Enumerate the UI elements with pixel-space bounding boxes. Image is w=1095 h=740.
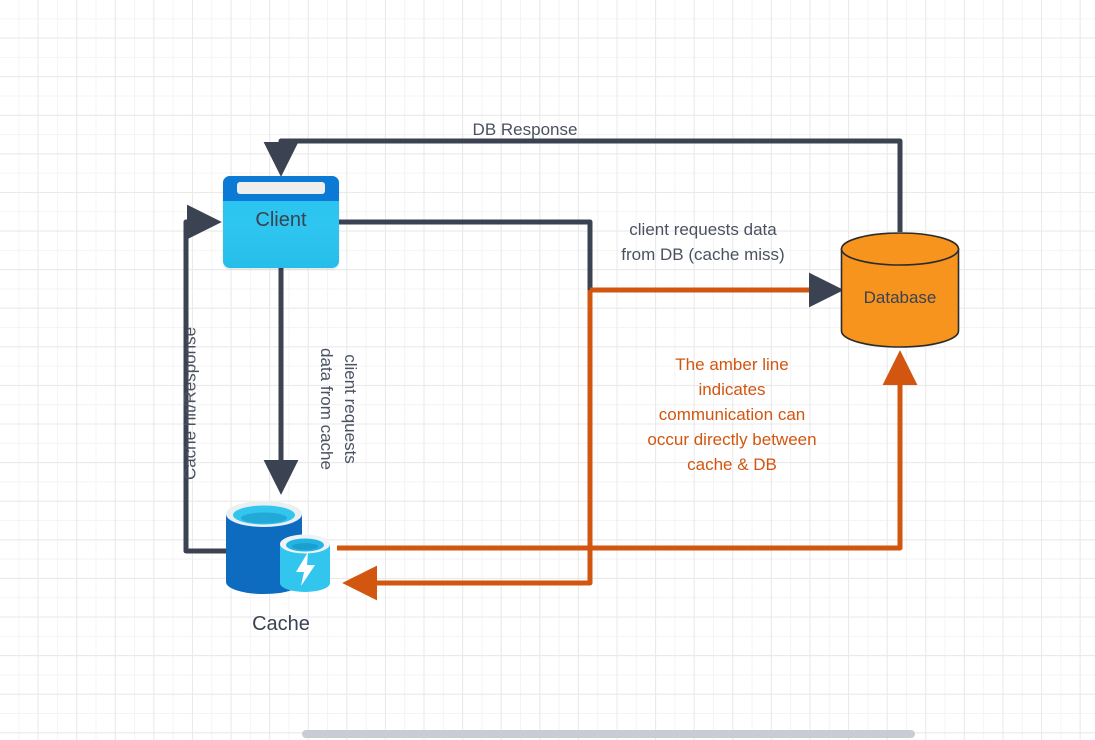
edge-label-client-to-db: client requests data from DB (cache miss… <box>588 217 818 267</box>
database-cylinder-icon <box>840 232 960 348</box>
client-window-titlebar-icon <box>223 176 339 201</box>
horizontal-scrollbar-thumb[interactable] <box>302 730 915 738</box>
node-client[interactable]: Client <box>223 176 339 268</box>
node-cache-label: Cache <box>200 613 362 636</box>
amber-line-annotation: The amber line indicates communication c… <box>606 352 858 477</box>
edge-db-to-cache <box>348 290 590 583</box>
client-titlebar-field-icon <box>237 182 325 194</box>
node-cache[interactable] <box>222 494 342 602</box>
diagram-canvas[interactable]: Client Cache Database DB Response client… <box>0 0 1095 740</box>
edge-label-client-to-cache: client requests data from cache <box>314 314 362 504</box>
cache-cylinders-icon <box>222 494 342 602</box>
horizontal-scrollbar[interactable] <box>0 728 1095 740</box>
node-client-label: Client <box>223 209 339 232</box>
edge-client-to-db <box>339 222 590 290</box>
edge-label-cache-hit: Cache hit/Response <box>178 309 203 499</box>
edge-label-db-response: DB Response <box>420 117 630 142</box>
node-database[interactable] <box>840 232 960 348</box>
connector-layer <box>0 0 1095 740</box>
